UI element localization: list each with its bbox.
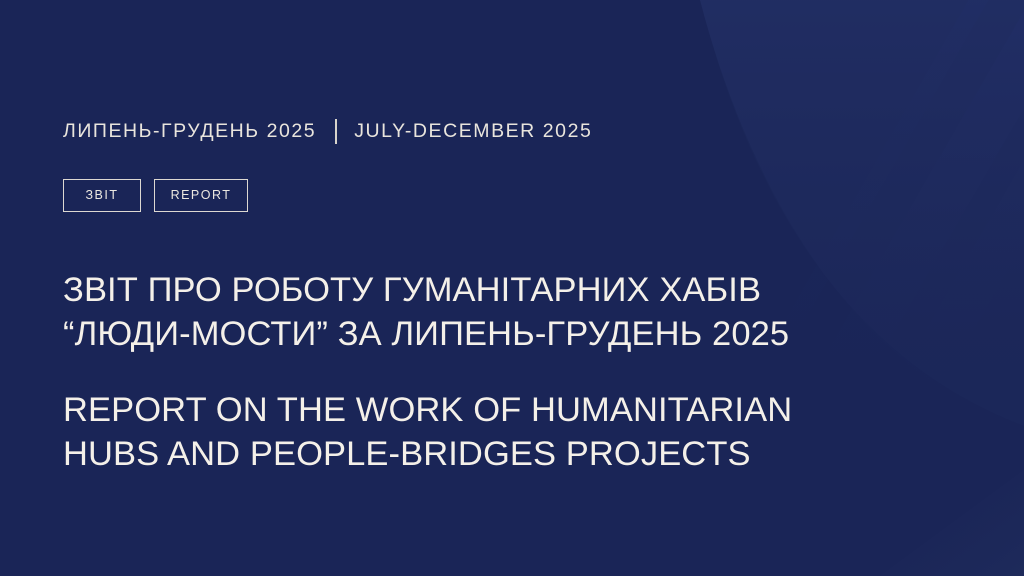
period-divider	[335, 119, 337, 144]
badge-group: ЗВІТ REPORT	[63, 179, 248, 212]
page-title-uk: ЗВІТ ПРО РОБОТУ ГУМАНІТАРНИХ ХАБІВ “ЛЮДИ…	[63, 268, 789, 356]
badge-zvit: ЗВІТ	[63, 179, 141, 212]
period-label-uk: ЛИПЕНЬ-ГРУДЕНЬ 2025	[63, 122, 316, 142]
page-title-en: REPORT ON THE WORK OF HUMANITARIAN HUBS …	[63, 388, 792, 476]
report-cover-slide: ЛИПЕНЬ-ГРУДЕНЬ 2025 JULY-DECEMBER 2025 З…	[0, 0, 1024, 576]
badge-report: REPORT	[154, 179, 248, 212]
cover-content: ЛИПЕНЬ-ГРУДЕНЬ 2025 JULY-DECEMBER 2025 З…	[63, 0, 963, 576]
period-line: ЛИПЕНЬ-ГРУДЕНЬ 2025 JULY-DECEMBER 2025	[63, 119, 592, 144]
period-label-en: JULY-DECEMBER 2025	[354, 122, 592, 142]
